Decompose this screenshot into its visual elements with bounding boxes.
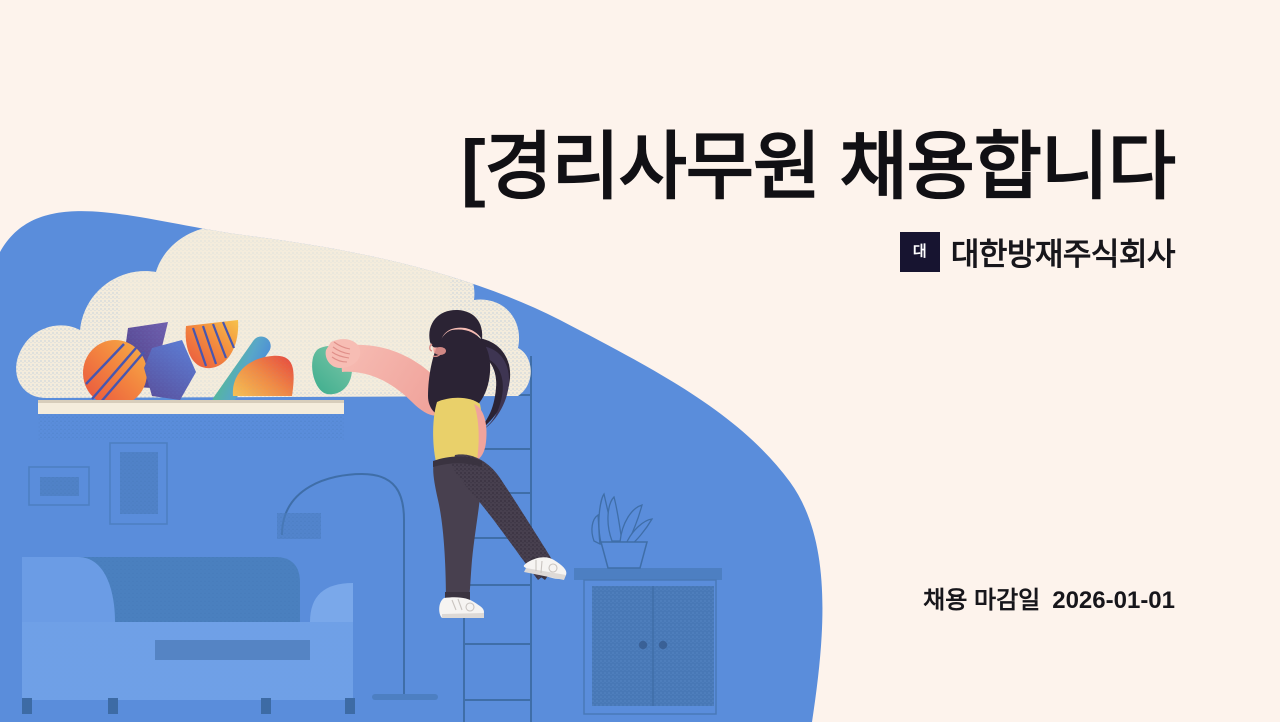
page-title: [경리사무원 채용합니다 — [0, 128, 1175, 206]
deadline-value: 2026-01-01 — [1052, 587, 1175, 614]
job-posting-poster: [경리사무원 채용합니다 대 대한방재주식회사 채용 마감일2026-01-01 — [0, 0, 1280, 722]
orange-striped-ball — [83, 340, 147, 406]
company-logo-badge: 대 — [900, 232, 940, 272]
company-name: 대한방재주식회사 — [951, 229, 1175, 274]
shelf-plank — [38, 400, 344, 440]
company-row: 대 대한방재주식회사 — [900, 229, 1175, 274]
deadline-row: 채용 마감일2026-01-01 — [923, 580, 1175, 615]
cabinet — [574, 568, 722, 714]
deadline-label: 채용 마감일 — [923, 587, 1040, 614]
